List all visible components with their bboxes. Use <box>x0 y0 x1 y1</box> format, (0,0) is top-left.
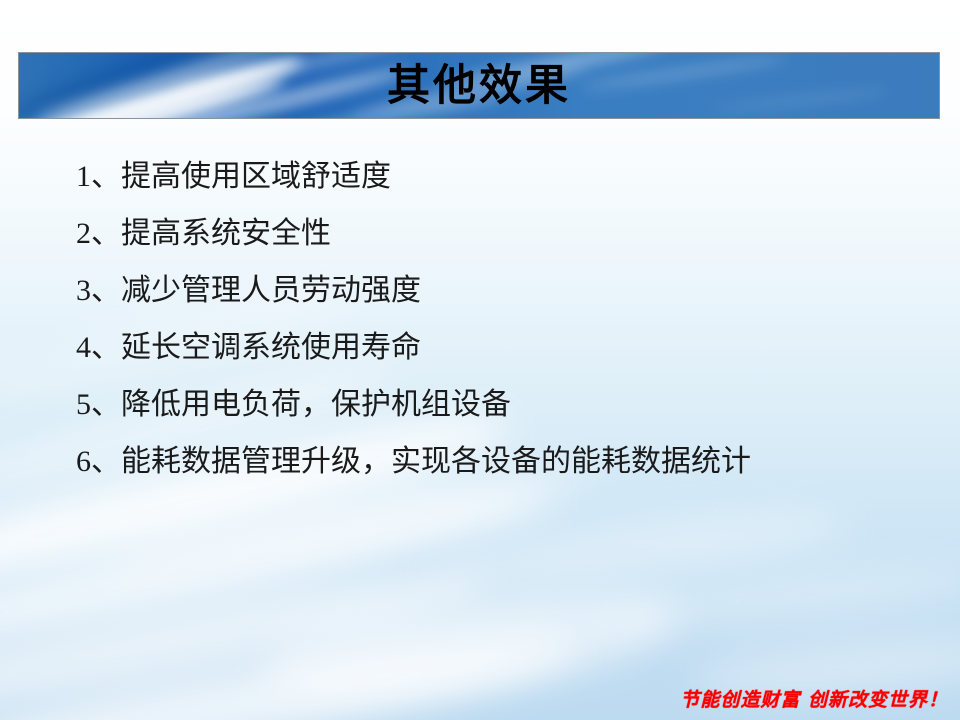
page-title: 其他效果 <box>19 53 939 119</box>
bullet-list: 1、提高使用区域舒适度 2、提高系统安全性 3、减少管理人员劳动强度 4、延长空… <box>76 148 916 490</box>
cloud-streak <box>429 500 852 601</box>
cloud-streak <box>0 467 558 682</box>
cloud-streak <box>0 550 490 720</box>
list-item: 1、提高使用区域舒适度 <box>76 148 916 205</box>
list-item: 2、提高系统安全性 <box>76 205 916 262</box>
presentation-slide: 其他效果 1、提高使用区域舒适度 2、提高系统安全性 3、减少管理人员劳动强度 … <box>0 0 960 720</box>
list-item: 6、能耗数据管理升级，实现各设备的能耗数据统计 <box>76 433 916 490</box>
cloud-streak <box>599 555 960 638</box>
list-item: 5、降低用电负荷，保护机组设备 <box>76 376 916 433</box>
title-banner: 其他效果 <box>18 52 940 119</box>
cloud-streak <box>256 571 684 719</box>
footer-slogan: 节能创造财富 创新改变世界！ <box>680 685 948 712</box>
list-item: 3、减少管理人员劳动强度 <box>76 262 916 319</box>
list-item: 4、延长空调系统使用寿命 <box>76 319 916 376</box>
cloud-streak <box>0 612 581 720</box>
